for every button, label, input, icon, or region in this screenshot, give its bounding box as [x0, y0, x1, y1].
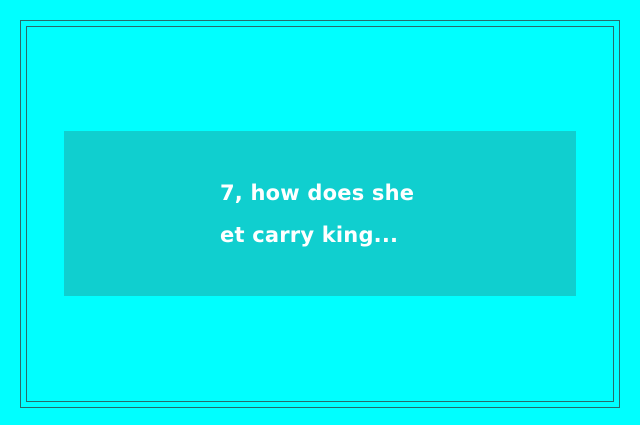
image-canvas: 7, how does she et carry king...: [0, 0, 640, 425]
text-banner-panel: 7, how does she et carry king...: [64, 131, 576, 296]
text-line-2: et carry king...: [220, 214, 420, 256]
text-line-1: 7, how does she: [220, 172, 420, 214]
